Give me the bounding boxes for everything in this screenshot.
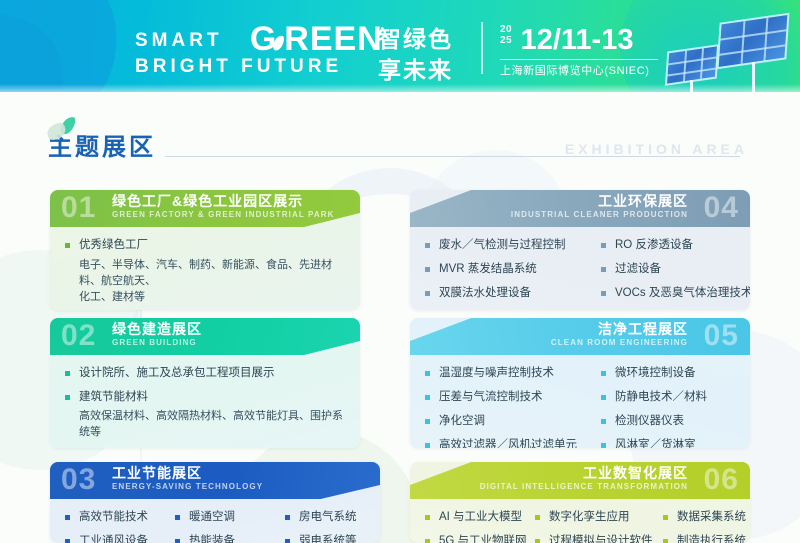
page-title: 主题展区 xyxy=(48,133,156,163)
card-column: 微环境控制设备 防静电技术／材料 检测仪器仪表 风淋室／货淋室 xyxy=(600,365,707,448)
list-item: 废水／气检测与过程控制 xyxy=(424,237,600,254)
card-title-cn: 工业数智化展区 xyxy=(583,465,688,482)
card-title-cn: 绿色工厂&绿色工业园区展示 xyxy=(112,193,303,210)
card-column: 暖通空调 热能装备 xyxy=(174,509,284,543)
list-item-detail: 高效保温材料、高效隔热材料、高效节能灯具、围护系统等 xyxy=(64,408,346,440)
list-item: AI 与工业大模型 xyxy=(424,509,534,526)
list-item: 建筑节能材料 xyxy=(64,389,346,406)
list-item: 制造执行系统 xyxy=(662,533,746,543)
card-title-cn: 绿色建造展区 xyxy=(112,321,202,338)
card-header: 03 工业节能展区 ENERGY-SAVING TECHNOLOGY xyxy=(50,462,380,499)
card-title-en: DIGITAL INTELLIGENCE TRANSFORMATION xyxy=(480,482,688,492)
list-item: 净化空调 xyxy=(424,413,600,430)
list-item: 设计院所、施工及总承包工程项目展示 xyxy=(64,365,346,382)
solar-panel-icon xyxy=(660,4,792,92)
card-title-cn: 洁净工程展区 xyxy=(598,321,688,338)
slogan-green: GREEN xyxy=(250,20,383,58)
event-dates: 12/11-13 xyxy=(521,24,634,57)
list-item: MVR 蒸发结晶系统 xyxy=(424,261,600,278)
list-item: 工业超纯水制备 xyxy=(424,309,600,310)
card-number: 03 xyxy=(61,463,96,497)
card-header: 01 绿色工厂&绿色工业园区展示 GREEN FACTORY & GREEN I… xyxy=(50,190,360,227)
list-item: BIPV 建筑光伏及储能等 xyxy=(64,447,346,448)
card-body: 温湿度与噪声控制技术 压差与气流控制技术 净化空调 高效过滤器／风机过滤单元 微… xyxy=(410,355,750,448)
slogan-cn-line2: 享未来 xyxy=(378,55,453,86)
list-item: 防静电技术／材料 xyxy=(600,389,707,406)
card-title-en: INDUSTRIAL CLEANER PRODUCTION xyxy=(511,210,688,220)
list-item: 5G 与工业物联网 xyxy=(424,533,534,543)
list-item: RO 反渗透设备 xyxy=(600,237,750,254)
list-item: 双膜法水处理设备 xyxy=(424,285,600,302)
card-number: 02 xyxy=(61,319,96,353)
banner-bottom-fade xyxy=(0,84,800,92)
exhibition-card-01[interactable]: 01 绿色工厂&绿色工业园区展示 GREEN FACTORY & GREEN I… xyxy=(50,190,360,310)
list-item: 房电气系统 xyxy=(284,509,380,526)
card-number: 06 xyxy=(704,463,739,497)
card-title-en: CLEAN ROOM ENGINEERING xyxy=(551,338,688,348)
card-number: 05 xyxy=(704,319,739,353)
card-column: 温湿度与噪声控制技术 压差与气流控制技术 净化空调 高效过滤器／风机过滤单元 xyxy=(424,365,600,448)
card-title-cn: 工业节能展区 xyxy=(112,465,202,482)
card-header: 06 工业数智化展区 DIGITAL INTELLIGENCE TRANSFOR… xyxy=(410,462,750,499)
list-item: 数字化孪生应用 xyxy=(534,509,662,526)
card-header: 04 工业环保展区 INDUSTRIAL CLEANER PRODUCTION xyxy=(410,190,750,227)
card-column: 房电气系统 弱电系统等 xyxy=(284,509,380,543)
card-title-cn: 工业环保展区 xyxy=(598,193,688,210)
list-item: 暖通空调 xyxy=(174,509,284,526)
banner-divider xyxy=(481,22,483,74)
card-title-en: ENERGY-SAVING TECHNOLOGY xyxy=(112,482,263,492)
card-number: 04 xyxy=(704,191,739,225)
card-column: RO 反渗透设备 过滤设备 VOCs 及恶臭气体治理技术 碳捕集与封存（CCUS… xyxy=(600,237,750,310)
exhibition-poster: SMART GREEN BRIGHT FUTURE 智绿色 享未来 2025 1… xyxy=(0,0,800,543)
exhibition-card-05[interactable]: 05 洁净工程展区 CLEAN ROOM ENGINEERING 温湿度与噪声控… xyxy=(410,318,750,448)
header-banner: SMART GREEN BRIGHT FUTURE 智绿色 享未来 2025 1… xyxy=(0,0,800,92)
exhibition-card-03[interactable]: 03 工业节能展区 ENERGY-SAVING TECHNOLOGY 高效节能技… xyxy=(50,462,380,543)
list-item: VOCs 及恶臭气体治理技术 xyxy=(600,285,750,302)
banner-slogan-en: SMART GREEN BRIGHT FUTURE xyxy=(135,26,383,80)
list-item: 碳捕集与封存（CCUS） xyxy=(600,309,750,310)
card-column: AI 与工业大模型 5G 与工业物联网 xyxy=(424,509,534,543)
card-column: 数字化孪生应用 过程模拟与设计软件 xyxy=(534,509,662,543)
event-year: 2025 xyxy=(500,24,512,46)
list-item: 过滤设备 xyxy=(600,261,750,278)
list-item-detail: 电子、半导体、汽车、制药、新能源、食品、先进材料、航空航天、化工、建材等 xyxy=(64,257,346,305)
card-body: 废水／气检测与过程控制 MVR 蒸发结晶系统 双膜法水处理设备 工业超纯水制备 … xyxy=(410,227,750,310)
list-item: 工业通风设备 xyxy=(64,533,174,543)
exhibition-card-06[interactable]: 06 工业数智化展区 DIGITAL INTELLIGENCE TRANSFOR… xyxy=(410,462,750,543)
banner-slogan-cn: 智绿色 享未来 xyxy=(378,24,453,86)
list-item: 优秀绿色工厂 xyxy=(64,237,346,254)
slogan-smart: SMART xyxy=(135,30,223,51)
event-venue: 上海新国际博览中心(SNIEC) xyxy=(500,62,650,78)
exhibition-card-04[interactable]: 04 工业环保展区 INDUSTRIAL CLEANER PRODUCTION … xyxy=(410,190,750,310)
card-title-en: GREEN BUILDING xyxy=(112,338,197,348)
card-header: 02 绿色建造展区 GREEN BUILDING xyxy=(50,318,360,355)
list-item: 压差与气流控制技术 xyxy=(424,389,600,406)
list-item: 高效节能技术 xyxy=(64,509,174,526)
list-item: 温湿度与噪声控制技术 xyxy=(424,365,600,382)
list-item: 高效过滤器／风机过滤单元 xyxy=(424,437,600,448)
slogan-cn-line1: 智绿色 xyxy=(378,24,453,55)
leaf-icon xyxy=(272,34,286,52)
date-underline xyxy=(500,59,658,60)
card-body: AI 与工业大模型 5G 与工业物联网 数字化孪生应用 过程模拟与设计软件 数据… xyxy=(410,499,750,543)
list-item: 弱电系统等 xyxy=(284,533,380,543)
list-item: 风淋室／货淋室 xyxy=(600,437,707,448)
card-body: 优秀绿色工厂 电子、半导体、汽车、制药、新能源、食品、先进材料、航空航天、化工、… xyxy=(50,227,360,310)
leaf-icon xyxy=(50,116,80,142)
list-item: 过程模拟与设计软件 xyxy=(534,533,662,543)
card-column: 高效节能技术 工业通风设备 xyxy=(64,509,174,543)
list-item: 数据采集系统 xyxy=(662,509,746,526)
card-column: 数据采集系统 制造执行系统 xyxy=(662,509,746,543)
list-item: 检测仪器仪表 xyxy=(600,413,707,430)
card-title-en: GREEN FACTORY & GREEN INDUSTRIAL PARK xyxy=(112,210,335,220)
list-item: 微环境控制设备 xyxy=(600,365,707,382)
exhibition-card-02[interactable]: 02 绿色建造展区 GREEN BUILDING 设计院所、施工及总承包工程项目… xyxy=(50,318,360,448)
card-body: 设计院所、施工及总承包工程项目展示 建筑节能材料 高效保温材料、高效隔热材料、高… xyxy=(50,355,360,448)
list-item: 热能装备 xyxy=(174,533,284,543)
card-header: 05 洁净工程展区 CLEAN ROOM ENGINEERING xyxy=(410,318,750,355)
card-number: 01 xyxy=(61,191,96,225)
card-column: 废水／气检测与过程控制 MVR 蒸发结晶系统 双膜法水处理设备 工业超纯水制备 xyxy=(424,237,600,310)
page-title-en: EXHIBITION AREA xyxy=(565,141,748,157)
card-body: 高效节能技术 工业通风设备 暖通空调 热能装备 房电气系统 弱电系统等 xyxy=(50,499,380,543)
event-date: 2025 12/11-13 xyxy=(500,24,633,57)
